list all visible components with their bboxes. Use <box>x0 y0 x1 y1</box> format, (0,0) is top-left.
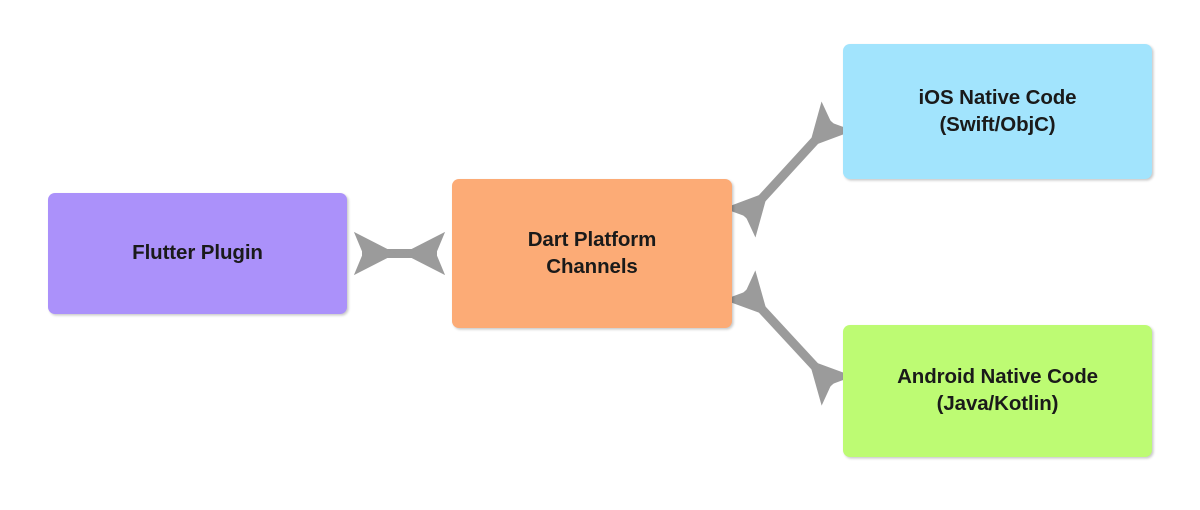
node-ios-native-code[interactable]: iOS Native Code (Swift/ObjC) <box>843 44 1152 179</box>
node-flutter-plugin[interactable]: Flutter Plugin <box>48 193 347 314</box>
node-android-native-code-label: Android Native Code (Java/Kotlin) <box>897 364 1098 417</box>
node-flutter-plugin-label: Flutter Plugin <box>132 240 263 267</box>
diagram-canvas: Flutter Plugin Dart Platform Channels iO… <box>0 0 1200 510</box>
connector-channels-to-ios <box>745 122 832 217</box>
connector-channels-to-android <box>745 291 832 385</box>
node-dart-platform-channels-label: Dart Platform Channels <box>528 227 657 280</box>
node-dart-platform-channels[interactable]: Dart Platform Channels <box>452 179 732 328</box>
node-android-native-code[interactable]: Android Native Code (Java/Kotlin) <box>843 325 1152 457</box>
node-ios-native-code-label: iOS Native Code (Swift/ObjC) <box>919 85 1077 138</box>
